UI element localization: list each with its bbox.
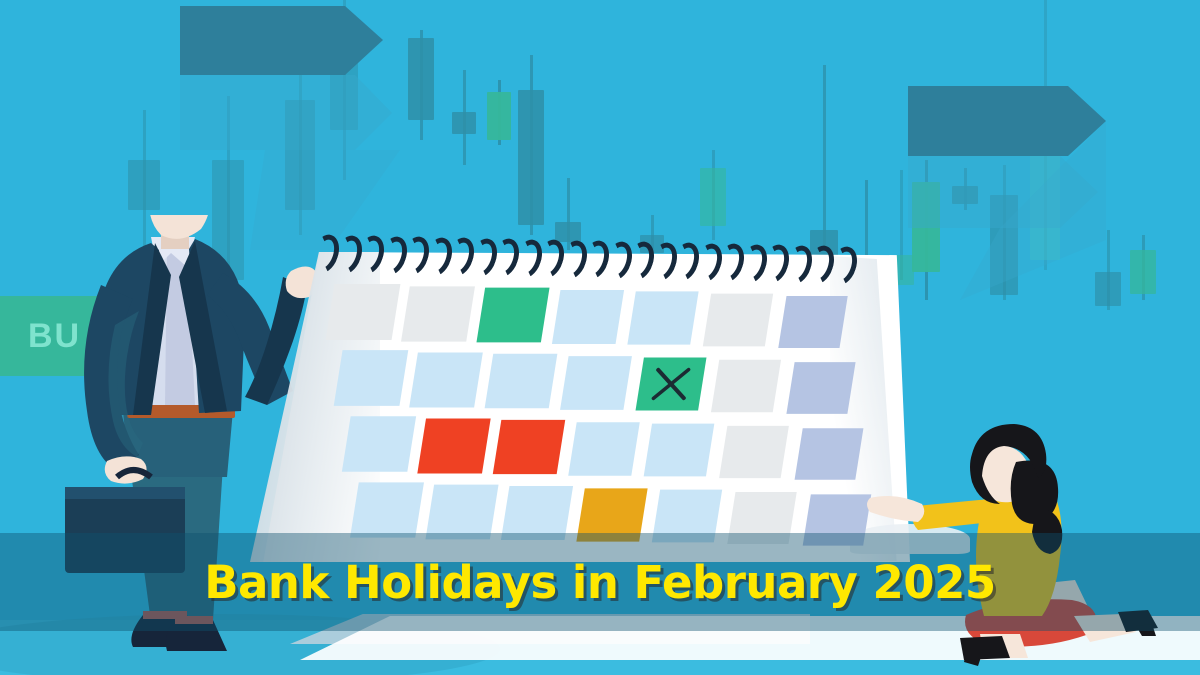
calendar-cell (552, 290, 624, 344)
calendar-cell (795, 428, 864, 480)
calendar-cell (485, 354, 558, 408)
businessman-briefcase-highlight (65, 487, 185, 499)
calendar-x-mark-icon (636, 358, 707, 411)
calendar-cell (409, 352, 483, 407)
arrow-top-left-icon (180, 6, 383, 75)
calendar-cell (711, 360, 781, 412)
calendar-cell (350, 482, 424, 537)
green-x-cell (636, 358, 707, 411)
calendar-cell (425, 484, 498, 539)
green-cell (476, 288, 549, 343)
calendar-cell (568, 422, 640, 476)
red-cell-2 (493, 420, 565, 474)
page-title: Bank Holidays in February 2025 (0, 533, 1200, 631)
calendar-cell (326, 284, 401, 340)
calendar-cell (342, 416, 416, 472)
calendar-cell (334, 350, 409, 406)
businessman-face (149, 215, 210, 239)
arrow-top-right-icon (908, 86, 1106, 156)
woman-shoe-left-heel (964, 652, 982, 666)
calendar (250, 232, 910, 562)
calendar-cell (703, 294, 773, 347)
red-cell-1 (417, 418, 490, 473)
calendar-cell (778, 296, 847, 348)
calendar-cell (560, 356, 632, 410)
calendar-cell (627, 292, 698, 345)
calendar-cell (401, 286, 475, 341)
calendar-cell (719, 426, 789, 478)
calendar-cell (644, 424, 715, 477)
banner-image: BU (0, 0, 1200, 675)
arrow-top-left-shadow (180, 75, 392, 150)
calendar-cell (786, 362, 855, 414)
woman-hand (867, 496, 924, 522)
